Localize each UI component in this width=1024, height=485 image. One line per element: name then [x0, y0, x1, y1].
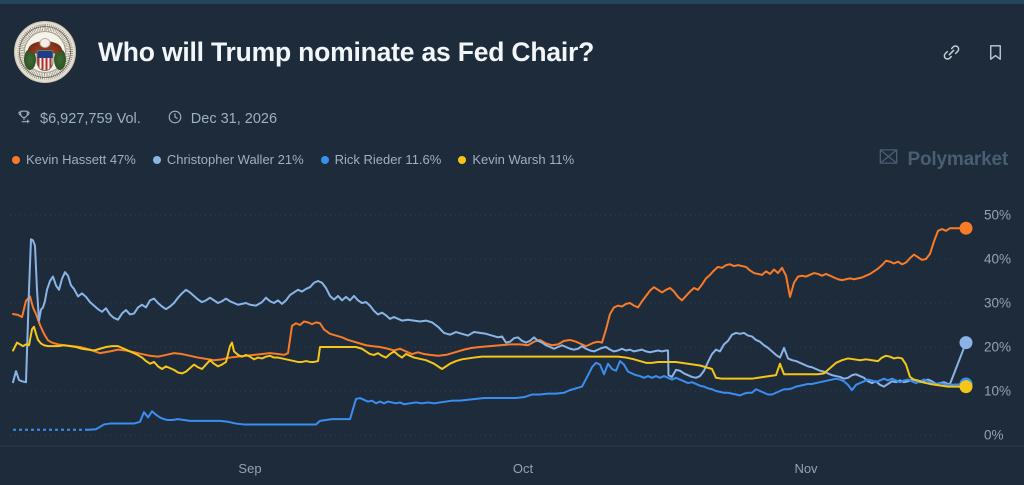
header-actions [940, 41, 1006, 63]
legend-color-dot [321, 156, 329, 164]
legend-color-dot [458, 156, 466, 164]
market-meta: $6,927,759 Vol. Dec 31, 2026 [16, 108, 277, 129]
end-date-value: Dec 31, 2026 [191, 111, 277, 127]
probability-chart[interactable]: 0%10%20%30%40%50% SepOctNov [0, 192, 1024, 485]
volume-value: $6,927,759 Vol. [40, 111, 141, 127]
end-date-block: Dec 31, 2026 [167, 109, 277, 129]
clock-icon [167, 109, 183, 129]
polymarket-logo-icon [878, 148, 899, 171]
chart-legend: Kevin Hassett 47%Christopher Waller 21%R… [12, 152, 574, 167]
watermark-text: Polymarket [908, 149, 1008, 171]
federal-reserve-seal-icon [14, 21, 76, 83]
bookmark-icon[interactable] [984, 41, 1006, 63]
chart-canvas[interactable] [0, 192, 1024, 485]
polymarket-watermark: Polymarket [878, 148, 1008, 171]
endpoint-dot-kevin-warsh [960, 380, 973, 393]
legend-entry-kevin-hassett[interactable]: Kevin Hassett 47% [12, 152, 136, 167]
trophy-icon [16, 108, 32, 129]
legend-entry-christopher-waller[interactable]: Christopher Waller 21% [153, 152, 304, 167]
endpoint-dot-christopher-waller [960, 336, 973, 349]
copy-link-icon[interactable] [940, 41, 962, 63]
legend-label: Kevin Hassett 47% [26, 152, 136, 167]
legend-entry-kevin-warsh[interactable]: Kevin Warsh 11% [458, 152, 574, 167]
legend-color-dot [12, 156, 20, 164]
series-line-kevin-hassett [13, 228, 966, 360]
series-line-rick-rieder [88, 361, 966, 430]
volume-block: $6,927,759 Vol. [16, 108, 141, 129]
endpoint-dot-kevin-hassett [960, 222, 973, 235]
legend-label: Rick Rieder 11.6% [335, 152, 442, 167]
page-title: Who will Trump nominate as Fed Chair? [98, 37, 940, 68]
legend-label: Kevin Warsh 11% [472, 152, 574, 167]
market-header: Who will Trump nominate as Fed Chair? [0, 4, 1024, 100]
legend-entry-rick-rieder[interactable]: Rick Rieder 11.6% [321, 152, 442, 167]
legend-color-dot [153, 156, 161, 164]
legend-label: Christopher Waller 21% [167, 152, 304, 167]
